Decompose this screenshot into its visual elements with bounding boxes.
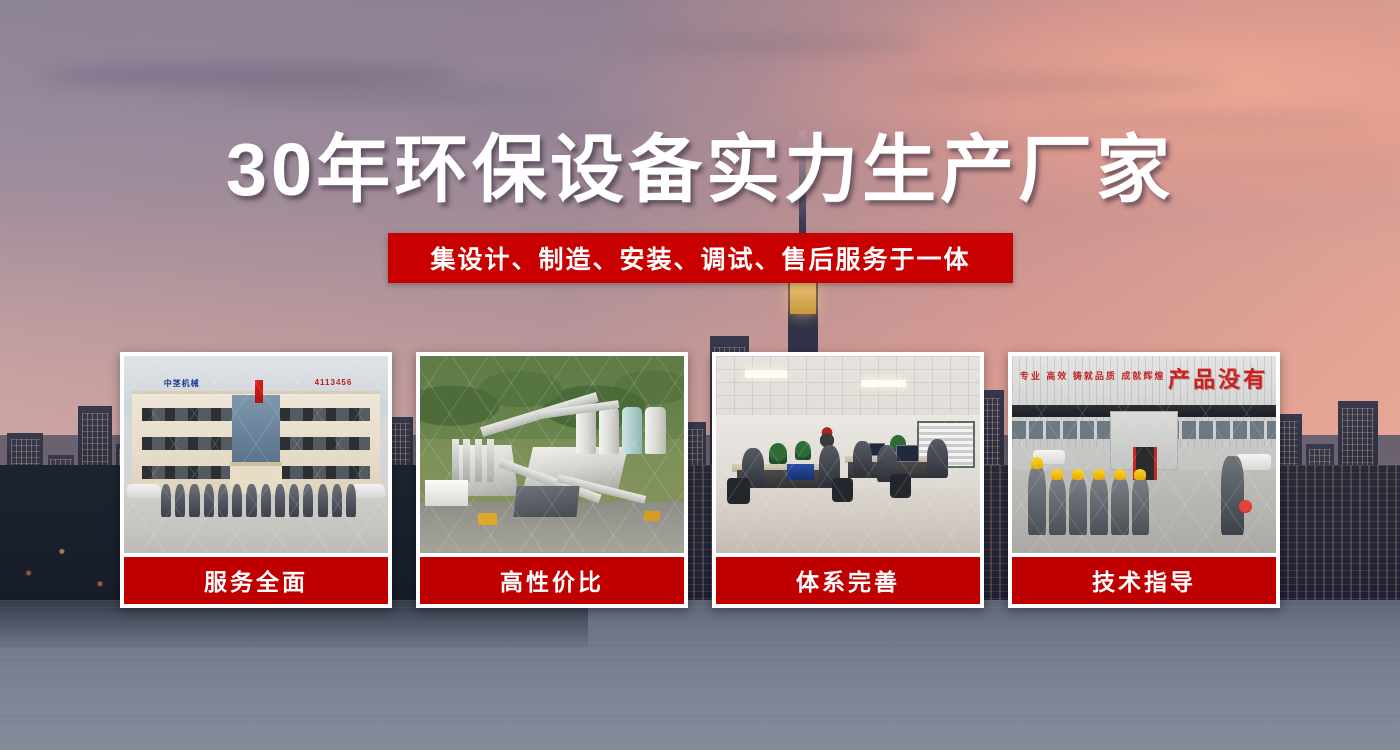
cloud bbox=[616, 35, 924, 52]
feature-card[interactable]: 产品没有 专业 高效 铸就品质 成就辉煌 bbox=[1008, 352, 1280, 608]
ceiling-light bbox=[861, 380, 906, 388]
laptop bbox=[787, 464, 813, 480]
building-phone-number: 4113456 bbox=[315, 378, 353, 387]
factory-wall-slogan: 专业 高效 铸就品质 成就辉煌 bbox=[1020, 370, 1166, 383]
feature-card-caption: 高性价比 bbox=[420, 557, 684, 604]
storage-silos bbox=[576, 407, 666, 454]
monitor bbox=[896, 445, 920, 463]
feature-card[interactable]: 高性价比 bbox=[416, 352, 688, 608]
page-title: 30年环保设备实力生产厂家 bbox=[0, 131, 1400, 209]
river-water bbox=[0, 600, 1400, 750]
building-sign-text: 中茎机械 bbox=[164, 378, 200, 389]
feature-card[interactable]: 中茎机械 4113456 服务全面 bbox=[120, 352, 392, 608]
company-headquarters-building-with-staff-photo: 中茎机械 4113456 bbox=[124, 356, 388, 553]
excavator bbox=[644, 511, 660, 521]
excavator bbox=[478, 513, 496, 525]
parked-car bbox=[127, 484, 161, 498]
workers-in-hardhats-at-factory-photo: 产品没有 专业 高效 铸就品质 成就辉煌 bbox=[1012, 356, 1276, 553]
subtitle-banner: 集设计、制造、安装、调试、售后服务于一体 bbox=[388, 233, 1013, 283]
worker-crew bbox=[1028, 456, 1149, 535]
factory-wall-banner: 产品没有 bbox=[1168, 362, 1268, 394]
aerial-view-industrial-plant-photo bbox=[420, 356, 684, 553]
feature-card-caption: 体系完善 bbox=[716, 557, 980, 604]
cloud bbox=[42, 65, 462, 87]
feature-card-caption: 技术指导 bbox=[1012, 557, 1276, 604]
promo-banner: 30年环保设备实力生产厂家 集设计、制造、安装、调试、售后服务于一体 中茎机械 … bbox=[0, 0, 1400, 750]
staff-lineup bbox=[161, 484, 356, 517]
office-interior-with-employees-photo bbox=[716, 356, 980, 553]
ceiling-light bbox=[745, 370, 787, 378]
feature-card-caption: 服务全面 bbox=[124, 557, 388, 604]
feature-card[interactable]: 体系完善 bbox=[712, 352, 984, 608]
flag-icon bbox=[255, 380, 263, 404]
supervisor bbox=[1221, 456, 1245, 535]
cloud bbox=[868, 74, 1232, 94]
feature-card-row: 中茎机械 4113456 服务全面 bbox=[120, 352, 1280, 608]
